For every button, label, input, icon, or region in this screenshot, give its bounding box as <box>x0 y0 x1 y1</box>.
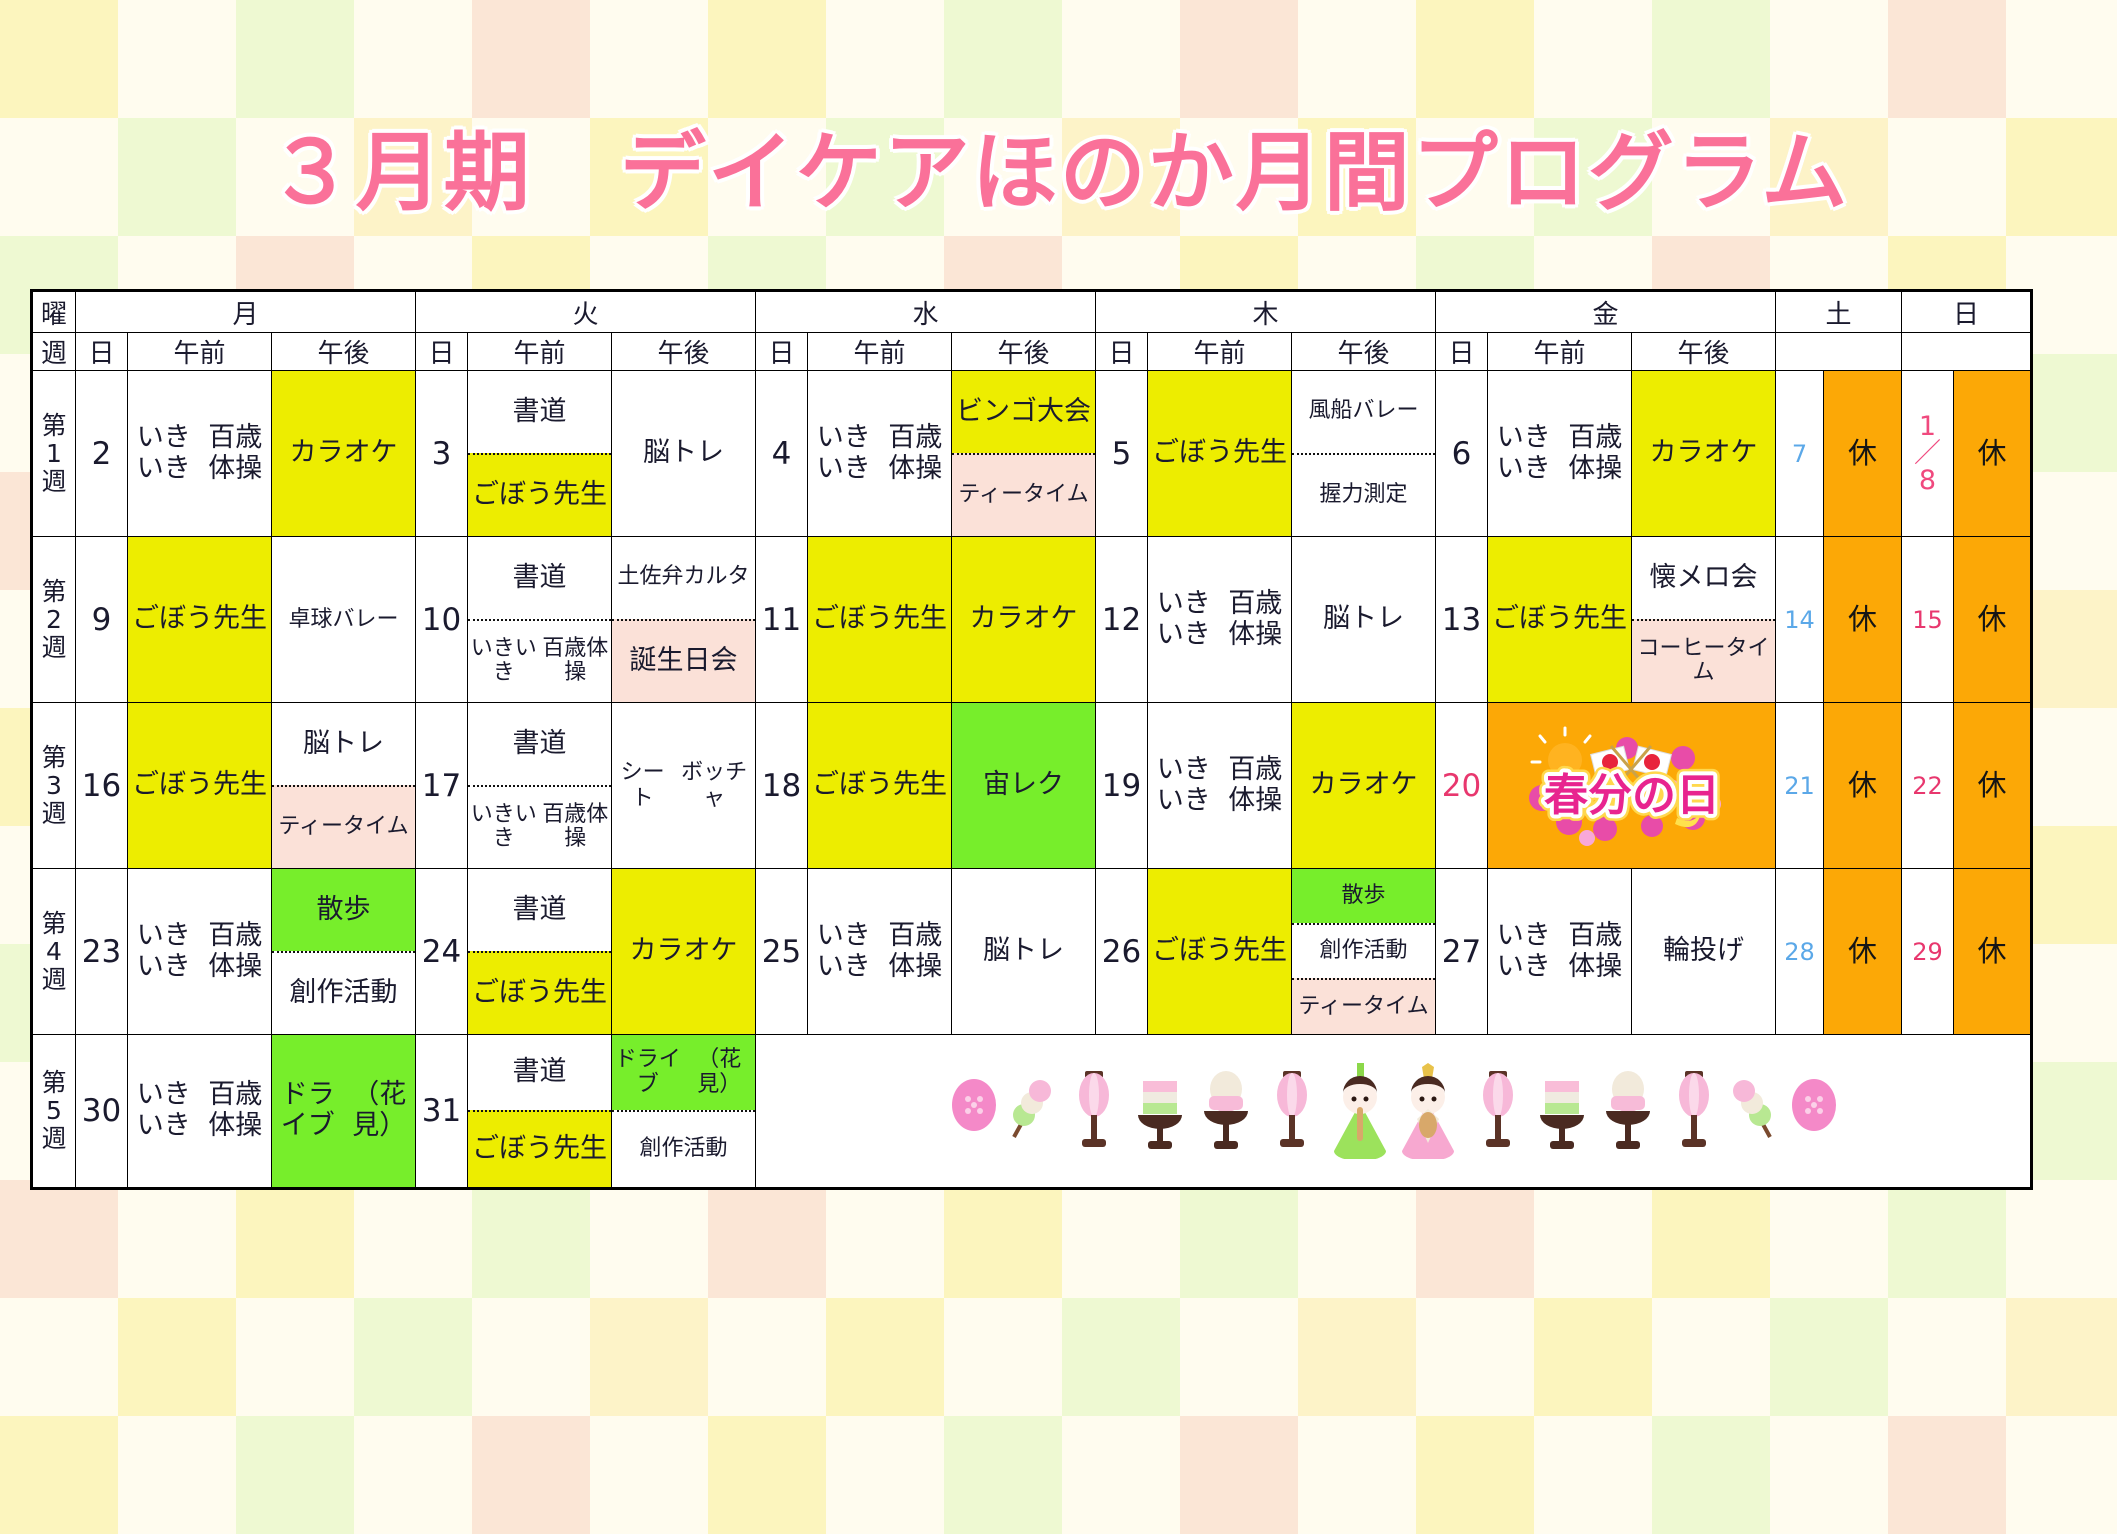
bonbori-lantern-icon <box>1483 1071 1513 1147</box>
activity-segment-0[interactable]: 散歩 <box>1292 869 1435 923</box>
col-header-day-1: 日 <box>416 333 468 371</box>
date-number: 16 <box>76 703 128 869</box>
sunday-rest-cell: 休 <box>1954 371 2032 537</box>
saturday-date: 28 <box>1776 869 1824 1035</box>
cell-am-25[interactable]: いきいき百歳体操 <box>808 869 952 1035</box>
cell-pm-19[interactable]: カラオケ <box>1292 703 1436 869</box>
activity-text: いきいき百歳体操 <box>128 371 271 536</box>
activity-segment-0[interactable]: 書道 <box>468 1035 611 1110</box>
activity-text: ごぼう先生 <box>1148 371 1291 536</box>
program-poster: ３月期 デイケアほのか月間プログラム 曜月火水木金土日週日午前午後日午前午後日午… <box>0 0 2117 1497</box>
activity-text: カラオケ <box>272 371 415 536</box>
activity-segment-0[interactable]: 脳トレ <box>272 703 415 785</box>
col-header-pm-3: 午後 <box>1292 333 1436 371</box>
weekday-header-0: 月 <box>76 291 416 333</box>
date-number: 23 <box>76 869 128 1035</box>
cell-am-27[interactable]: いきいき百歳体操 <box>1488 869 1632 1035</box>
activity-text: 卓球バレー <box>272 537 415 702</box>
activity-text: ごぼう先生 <box>128 703 271 868</box>
cell-pm-30[interactable]: ドライブ（花見） <box>272 1035 416 1189</box>
ohinasama-doll-icon <box>1402 1063 1454 1159</box>
rest-label: 休 <box>1954 371 2030 536</box>
date-number: 24 <box>416 869 468 1035</box>
weekday-header-saturday: 土 <box>1776 291 1902 333</box>
activity-text: ドライブ（花見） <box>272 1035 415 1187</box>
activity-text: 脳トレ <box>1292 537 1435 702</box>
cell-pm-2[interactable]: カラオケ <box>272 371 416 537</box>
sunday-date: 1／8 <box>1902 371 1954 537</box>
activity-text: カラオケ <box>1292 703 1435 868</box>
activity-segment-1[interactable]: 誕生日会 <box>612 619 755 703</box>
date-number: 10 <box>416 537 468 703</box>
date-number: 20 <box>1436 703 1488 869</box>
col-header-sun-blank <box>1902 333 2032 371</box>
activity-text: いきいき百歳体操 <box>128 1035 271 1187</box>
corner-label-week: 週 <box>32 333 76 371</box>
date-number: 27 <box>1436 869 1488 1035</box>
svg-text:春分の日: 春分の日 <box>1544 770 1720 821</box>
activity-segment-0[interactable]: 懐メロ会 <box>1632 537 1775 619</box>
cell-am-12[interactable]: いきいき百歳体操 <box>1148 537 1292 703</box>
rest-label: 休 <box>1824 869 1901 1034</box>
date-number: 30 <box>76 1035 128 1189</box>
activity-text: 脳トレ <box>952 869 1095 1034</box>
activity-segment-1[interactable]: ティータイム <box>272 785 415 869</box>
decoration-cell <box>756 1035 2032 1189</box>
hishimochi-icon <box>1138 1081 1182 1149</box>
weekday-header-1: 火 <box>416 291 756 333</box>
activity-text: カラオケ <box>612 869 755 1034</box>
activity-text: ごぼう先生 <box>808 537 951 702</box>
sakura-blossom-icon <box>1792 1079 1836 1131</box>
cell-pm-11[interactable]: カラオケ <box>952 537 1096 703</box>
saturday-rest-cell: 休 <box>1824 703 1902 869</box>
saturday-date: 14 <box>1776 537 1824 703</box>
activity-text: ごぼう先生 <box>808 703 951 868</box>
cell-am-4[interactable]: いきいき百歳体操 <box>808 371 952 537</box>
date-number: 9 <box>76 537 128 703</box>
cell-am-3[interactable]: 書道ごぼう先生 <box>468 371 612 537</box>
activity-segment-0[interactable]: 書道 <box>468 703 611 785</box>
holiday-cell: 春分の日春分の日春分の日 <box>1488 703 1776 869</box>
sunday-rest-cell: 休 <box>1954 703 2032 869</box>
hishimochi-icon <box>1540 1081 1584 1149</box>
activity-segment-1[interactable]: 創作活動 <box>612 1110 755 1187</box>
monthly-program-table: 曜月火水木金土日週日午前午後日午前午後日午前午後日午前午後日午前午後第1週2いき… <box>30 289 2033 1190</box>
saturday-rest-cell: 休 <box>1824 537 1902 703</box>
sunday-date: 22 <box>1902 703 1954 869</box>
bonbori-lantern-icon <box>1277 1071 1307 1147</box>
date-number: 2 <box>76 371 128 537</box>
header-row-period: 週日午前午後日午前午後日午前午後日午前午後日午前午後 <box>32 333 2032 371</box>
week-row-1: 第1週2いきいき百歳体操カラオケ3書道ごぼう先生脳トレ4いきいき百歳体操ビンゴ大… <box>32 371 2032 537</box>
saturday-date: 21 <box>1776 703 1824 869</box>
col-header-day-4: 日 <box>1436 333 1488 371</box>
cell-pm-10[interactable]: 土佐弁カルタ誕生日会 <box>612 537 756 703</box>
sakuramochi-icon <box>1606 1071 1650 1149</box>
date-number: 13 <box>1436 537 1488 703</box>
week-label: 第2週 <box>32 537 76 703</box>
cell-am-9[interactable]: ごぼう先生 <box>128 537 272 703</box>
dango-skewer-icon <box>1013 1080 1051 1137</box>
activity-text: 輪投げ <box>1632 869 1775 1034</box>
cell-pm-23[interactable]: 散歩創作活動 <box>272 869 416 1035</box>
date-number: 31 <box>416 1035 468 1189</box>
week-row-5: 第5週30いきいき百歳体操ドライブ（花見）31書道ごぼう先生ドライブ（花見）創作… <box>32 1035 2032 1189</box>
col-header-pm-0: 午後 <box>272 333 416 371</box>
sunday-rest-cell: 休 <box>1954 537 2032 703</box>
activity-text: いきいき百歳体操 <box>808 371 951 536</box>
col-header-sat-blank <box>1776 333 1902 371</box>
weekday-header-2: 水 <box>756 291 1096 333</box>
cell-pm-4[interactable]: ビンゴ大会ティータイム <box>952 371 1096 537</box>
cell-pm-17[interactable]: シートボッチャ <box>612 703 756 869</box>
weekday-header-3: 木 <box>1096 291 1436 333</box>
col-header-pm-2: 午後 <box>952 333 1096 371</box>
cell-pm-3[interactable]: 脳トレ <box>612 371 756 537</box>
cell-pm-5[interactable]: 風船バレー握力測定 <box>1292 371 1436 537</box>
rest-label: 休 <box>1954 703 2030 868</box>
cell-am-23[interactable]: いきいき百歳体操 <box>128 869 272 1035</box>
activity-segment-0[interactable]: 書道 <box>468 869 611 951</box>
sakuramochi-icon <box>1204 1071 1248 1149</box>
rest-label: 休 <box>1824 371 1901 536</box>
hinamatsuri-illustration <box>756 1035 2030 1187</box>
rest-label: 休 <box>1954 869 2030 1034</box>
activity-segment-1[interactable]: ごぼう先生 <box>468 951 611 1035</box>
cell-pm-27[interactable]: 輪投げ <box>1632 869 1776 1035</box>
activity-segment-2[interactable]: ティータイム <box>1292 978 1435 1034</box>
saturday-date: 7 <box>1776 371 1824 537</box>
col-header-day-3: 日 <box>1096 333 1148 371</box>
activity-segment-1[interactable]: ごぼう先生 <box>468 453 611 537</box>
cell-am-10[interactable]: 書道いきいき百歳体操 <box>468 537 612 703</box>
activity-text: いきいき百歳体操 <box>128 869 271 1034</box>
activity-stack: 散歩創作活動ティータイム <box>1292 869 1435 1034</box>
activity-segment-1[interactable]: 創作活動 <box>272 951 415 1035</box>
activity-segment-0[interactable]: 土佐弁カルタ <box>612 537 755 619</box>
cell-am-6[interactable]: いきいき百歳体操 <box>1488 371 1632 537</box>
col-header-day-0: 日 <box>76 333 128 371</box>
rest-label: 休 <box>1824 703 1901 868</box>
activity-text: いきいき百歳体操 <box>1148 537 1291 702</box>
date-number: 19 <box>1096 703 1148 869</box>
cell-pm-12[interactable]: 脳トレ <box>1292 537 1436 703</box>
activity-segment-0[interactable]: ドライブ（花見） <box>612 1035 755 1110</box>
activity-text: いきいき百歳体操 <box>1488 869 1631 1034</box>
activity-segment-1[interactable]: ごぼう先生 <box>468 1110 611 1187</box>
week-label: 第5週 <box>32 1035 76 1189</box>
activity-stack: 書道ごぼう先生 <box>468 869 611 1034</box>
week-label: 第1週 <box>32 371 76 537</box>
rest-label: 休 <box>1824 537 1901 702</box>
cell-am-17[interactable]: 書道いきいき百歳体操 <box>468 703 612 869</box>
activity-text: ごぼう先生 <box>1488 537 1631 702</box>
date-number: 12 <box>1096 537 1148 703</box>
col-header-am-4: 午前 <box>1488 333 1632 371</box>
activity-text: ごぼう先生 <box>128 537 271 702</box>
saturday-rest-cell: 休 <box>1824 869 1902 1035</box>
cell-pm-6[interactable]: カラオケ <box>1632 371 1776 537</box>
date-number: 6 <box>1436 371 1488 537</box>
week-row-3: 第3週16ごぼう先生脳トレティータイム17書道いきいき百歳体操シートボッチャ18… <box>32 703 2032 869</box>
activity-text: いきいき百歳体操 <box>1148 703 1291 868</box>
activity-stack: 風船バレー握力測定 <box>1292 371 1435 536</box>
activity-stack: ビンゴ大会ティータイム <box>952 371 1095 536</box>
odairisama-doll-icon <box>1334 1063 1386 1159</box>
date-number: 3 <box>416 371 468 537</box>
corner-label-dow: 曜 <box>32 291 76 333</box>
activity-text: シートボッチャ <box>612 703 755 868</box>
activity-text: いきいき百歳体操 <box>808 869 951 1034</box>
activity-stack: 書道ごぼう先生 <box>468 371 611 536</box>
dango-skewer-icon <box>1733 1080 1771 1137</box>
weekday-header-sunday: 日 <box>1902 291 2032 333</box>
activity-segment-0[interactable]: 風船バレー <box>1292 371 1435 453</box>
cell-am-5[interactable]: ごぼう先生 <box>1148 371 1292 537</box>
cell-am-26[interactable]: ごぼう先生 <box>1148 869 1292 1035</box>
bonbori-lantern-icon <box>1079 1071 1109 1147</box>
cell-pm-18[interactable]: 宙レク <box>952 703 1096 869</box>
cell-pm-9[interactable]: 卓球バレー <box>272 537 416 703</box>
activity-segment-0[interactable]: 書道 <box>468 537 611 619</box>
activity-text: カラオケ <box>952 537 1095 702</box>
activity-text: カラオケ <box>1632 371 1775 536</box>
sunday-date: 29 <box>1902 869 1954 1035</box>
activity-segment-1[interactable]: 握力測定 <box>1292 453 1435 537</box>
cell-am-16[interactable]: ごぼう先生 <box>128 703 272 869</box>
header-row-weekday: 曜月火水木金土日 <box>32 291 2032 333</box>
activity-stack: 脳トレティータイム <box>272 703 415 868</box>
date-number: 4 <box>756 371 808 537</box>
cell-am-24[interactable]: 書道ごぼう先生 <box>468 869 612 1035</box>
cell-pm-31[interactable]: ドライブ（花見）創作活動 <box>612 1035 756 1189</box>
date-number: 25 <box>756 869 808 1035</box>
activity-stack: 書道いきいき百歳体操 <box>468 703 611 868</box>
col-header-pm-1: 午後 <box>612 333 756 371</box>
activity-segment-1[interactable]: いきいき百歳体操 <box>468 785 611 869</box>
activity-segment-1[interactable]: 創作活動 <box>1292 923 1435 979</box>
activity-stack: 土佐弁カルタ誕生日会 <box>612 537 755 702</box>
week-row-2: 第2週9ごぼう先生卓球バレー10書道いきいき百歳体操土佐弁カルタ誕生日会11ごぼ… <box>32 537 2032 703</box>
cell-am-18[interactable]: ごぼう先生 <box>808 703 952 869</box>
sunday-rest-cell: 休 <box>1954 869 2032 1035</box>
activity-segment-1[interactable]: ティータイム <box>952 453 1095 537</box>
cell-am-2[interactable]: いきいき百歳体操 <box>128 371 272 537</box>
col-header-am-3: 午前 <box>1148 333 1292 371</box>
page-title: ３月期 デイケアほのか月間プログラム <box>0 130 2117 216</box>
holiday-cell-shunbun: 春分の日春分の日春分の日 <box>1488 703 1775 868</box>
weekday-header-4: 金 <box>1436 291 1776 333</box>
col-header-am-0: 午前 <box>128 333 272 371</box>
col-header-pm-4: 午後 <box>1632 333 1776 371</box>
activity-stack: 書道ごぼう先生 <box>468 1035 611 1187</box>
activity-segment-0[interactable]: 散歩 <box>272 869 415 951</box>
cell-am-11[interactable]: ごぼう先生 <box>808 537 952 703</box>
col-header-am-1: 午前 <box>468 333 612 371</box>
activity-segment-0[interactable]: 書道 <box>468 371 611 453</box>
activity-segment-1[interactable]: コーヒータイム <box>1632 619 1775 703</box>
activity-text: ごぼう先生 <box>1148 869 1291 1034</box>
date-number: 11 <box>756 537 808 703</box>
cell-am-19[interactable]: いきいき百歳体操 <box>1148 703 1292 869</box>
cell-pm-25[interactable]: 脳トレ <box>952 869 1096 1035</box>
cell-am-31[interactable]: 書道ごぼう先生 <box>468 1035 612 1189</box>
shunbun-no-hi-badge-icon: 春分の日春分の日春分の日 <box>1507 726 1757 846</box>
activity-text: 脳トレ <box>612 371 755 536</box>
activity-segment-0[interactable]: ビンゴ大会 <box>952 371 1095 453</box>
activity-stack: 散歩創作活動 <box>272 869 415 1034</box>
activity-stack: 書道いきいき百歳体操 <box>468 537 611 702</box>
date-number: 26 <box>1096 869 1148 1035</box>
cell-pm-24[interactable]: カラオケ <box>612 869 756 1035</box>
rest-label: 休 <box>1954 537 2030 702</box>
week-row-4: 第4週23いきいき百歳体操散歩創作活動24書道ごぼう先生カラオケ25いきいき百歳… <box>32 869 2032 1035</box>
cell-pm-16[interactable]: 脳トレティータイム <box>272 703 416 869</box>
week-label: 第3週 <box>32 703 76 869</box>
col-header-am-2: 午前 <box>808 333 952 371</box>
cell-am-13[interactable]: ごぼう先生 <box>1488 537 1632 703</box>
activity-text: 宙レク <box>952 703 1095 868</box>
bonbori-lantern-icon <box>1679 1071 1709 1147</box>
activity-stack: ドライブ（花見）創作活動 <box>612 1035 755 1187</box>
cell-pm-26[interactable]: 散歩創作活動ティータイム <box>1292 869 1436 1035</box>
date-number: 5 <box>1096 371 1148 537</box>
week-label: 第4週 <box>32 869 76 1035</box>
activity-segment-1[interactable]: いきいき百歳体操 <box>468 619 611 703</box>
cell-am-30[interactable]: いきいき百歳体操 <box>128 1035 272 1189</box>
sunday-date: 15 <box>1902 537 1954 703</box>
activity-text: いきいき百歳体操 <box>1488 371 1631 536</box>
sakura-blossom-icon <box>952 1079 996 1131</box>
date-number: 17 <box>416 703 468 869</box>
saturday-rest-cell: 休 <box>1824 371 1902 537</box>
col-header-day-2: 日 <box>756 333 808 371</box>
date-number: 18 <box>756 703 808 869</box>
cell-pm-13[interactable]: 懐メロ会コーヒータイム <box>1632 537 1776 703</box>
activity-stack: 懐メロ会コーヒータイム <box>1632 537 1775 702</box>
